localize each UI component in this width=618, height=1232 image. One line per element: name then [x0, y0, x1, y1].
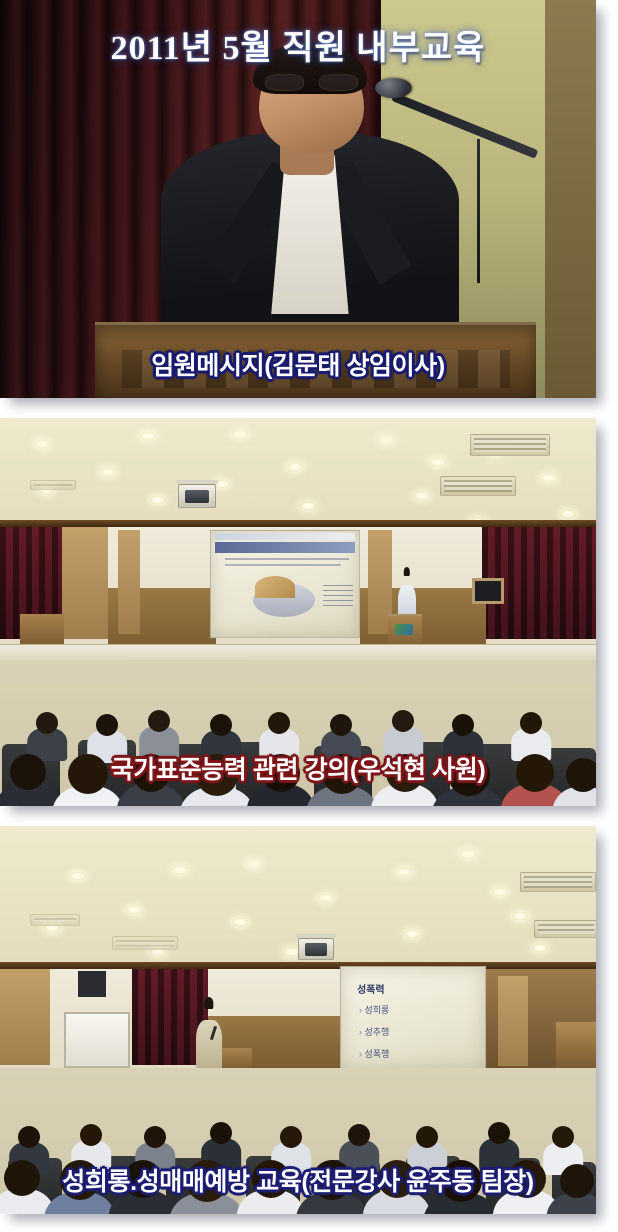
photo-card-2: 국가표준능력 관련 강의(우석현 사원) — [0, 418, 596, 806]
audience-member — [488, 1122, 510, 1144]
whiteboard — [64, 1012, 130, 1068]
audience-member — [18, 1126, 40, 1148]
ceiling-beam — [0, 962, 596, 969]
lectern — [95, 322, 536, 398]
projector — [178, 484, 216, 508]
side-table — [556, 1022, 596, 1068]
ceiling-light — [541, 474, 557, 482]
audience-member — [60, 1160, 100, 1204]
ceiling-light — [140, 432, 156, 440]
ceiling-light — [404, 930, 420, 938]
audience-member — [330, 714, 352, 736]
air-vent — [30, 480, 76, 490]
air-vent — [30, 914, 80, 926]
slide-bullet-1: 성희롱 — [359, 1003, 389, 1016]
eyeglasses-icon — [265, 74, 357, 91]
photo-card-3: 성폭력 성희롱 성추행 성폭행 — [0, 826, 596, 1214]
audience-member — [252, 1160, 290, 1202]
wall-speaker — [78, 971, 106, 997]
ceiling-light — [34, 440, 50, 448]
audience-member — [520, 712, 542, 734]
audience-member — [386, 754, 424, 796]
audience-member — [378, 1160, 416, 1202]
ceiling-light — [560, 510, 576, 518]
photo-2-scene — [0, 418, 596, 806]
audience-member — [392, 710, 414, 732]
audience-member — [416, 1126, 438, 1148]
audience-member — [144, 1126, 166, 1148]
slide-text-line — [225, 558, 349, 560]
audience-member — [68, 754, 108, 798]
wall-panel-left — [0, 969, 50, 1065]
audience-member — [280, 1126, 302, 1148]
ceiling-light — [246, 860, 262, 868]
audience-member — [80, 1124, 102, 1146]
audience-member — [566, 758, 596, 798]
audience-member — [124, 1160, 162, 1202]
audience-member — [148, 710, 170, 732]
ceiling-light — [287, 463, 303, 471]
audience-member — [10, 754, 46, 794]
audience-member — [210, 714, 232, 736]
page-title: 2011년 5월 직원 내부교육 — [0, 20, 596, 69]
pie-chart-legend — [323, 585, 353, 609]
page-root: 임원메시지(김문태 상임이사) — [0, 0, 618, 1232]
ceiling-light — [378, 436, 394, 444]
audience-member — [312, 1160, 352, 1204]
air-vent — [112, 936, 178, 950]
wall-monitor — [472, 578, 504, 604]
air-vent — [470, 434, 550, 456]
audience-member — [96, 714, 118, 736]
audience-area-2 — [0, 646, 596, 806]
ceiling-light — [232, 430, 248, 438]
microphone-cable — [477, 139, 480, 282]
audience-member — [210, 1122, 232, 1144]
audience-member — [322, 754, 362, 798]
audience-member — [186, 1160, 228, 1206]
audience-member — [196, 754, 238, 800]
air-vent — [440, 476, 516, 496]
ceiling-light — [150, 496, 166, 504]
ceiling-beam — [0, 520, 596, 527]
ceiling-light — [70, 872, 86, 880]
audience-member — [440, 1160, 482, 1206]
ceiling-light — [396, 868, 412, 876]
photo-3-scene: 성폭력 성희롱 성추행 성폭행 — [0, 826, 596, 1214]
door-left — [118, 530, 140, 634]
ceiling-light — [126, 906, 142, 914]
slide-title-3: 성폭력 — [357, 981, 385, 996]
slide-header-bar — [215, 533, 355, 540]
ceiling-light — [532, 944, 548, 952]
audience-member — [560, 1164, 594, 1204]
air-vent — [534, 920, 596, 938]
audience-member — [268, 712, 290, 734]
audience-member — [348, 1124, 370, 1146]
ceiling-light — [414, 492, 430, 500]
audience-member — [36, 712, 58, 734]
audience-member — [262, 754, 300, 796]
audience-member — [552, 1126, 574, 1148]
projector — [298, 938, 334, 960]
ceiling-light — [512, 912, 528, 920]
audience-area-3 — [0, 1064, 596, 1214]
ceiling-light — [172, 866, 188, 874]
audience-member — [516, 754, 554, 796]
audience-member — [4, 1160, 40, 1200]
ceiling-light — [300, 502, 316, 510]
ceiling-light — [492, 888, 508, 896]
slide-bullet-3: 성폭행 — [359, 1047, 389, 1060]
slide-bullet-2: 성추행 — [359, 1025, 389, 1038]
audience-member — [132, 754, 170, 796]
ceiling-light — [100, 468, 116, 476]
pie-chart-slice — [255, 576, 295, 598]
lectern-emblem — [395, 624, 413, 635]
projection-screen-3: 성폭력 성희롱 성추행 성폭행 — [340, 966, 486, 1070]
ceiling-light — [318, 894, 334, 902]
wall-panel — [62, 527, 108, 639]
air-vent — [520, 872, 596, 892]
side-lectern — [20, 614, 64, 648]
audience-member — [448, 754, 490, 800]
door-right — [498, 976, 528, 1066]
audience-member — [508, 1160, 546, 1202]
slide-title-bar — [215, 542, 355, 553]
projection-screen-2 — [210, 530, 360, 638]
ceiling-light — [430, 458, 446, 466]
ceiling-light — [232, 918, 248, 926]
slide-text-line — [225, 564, 341, 566]
ceiling-light — [460, 850, 476, 858]
lecturer-figure-3 — [196, 998, 222, 1072]
audience-member — [452, 714, 474, 736]
